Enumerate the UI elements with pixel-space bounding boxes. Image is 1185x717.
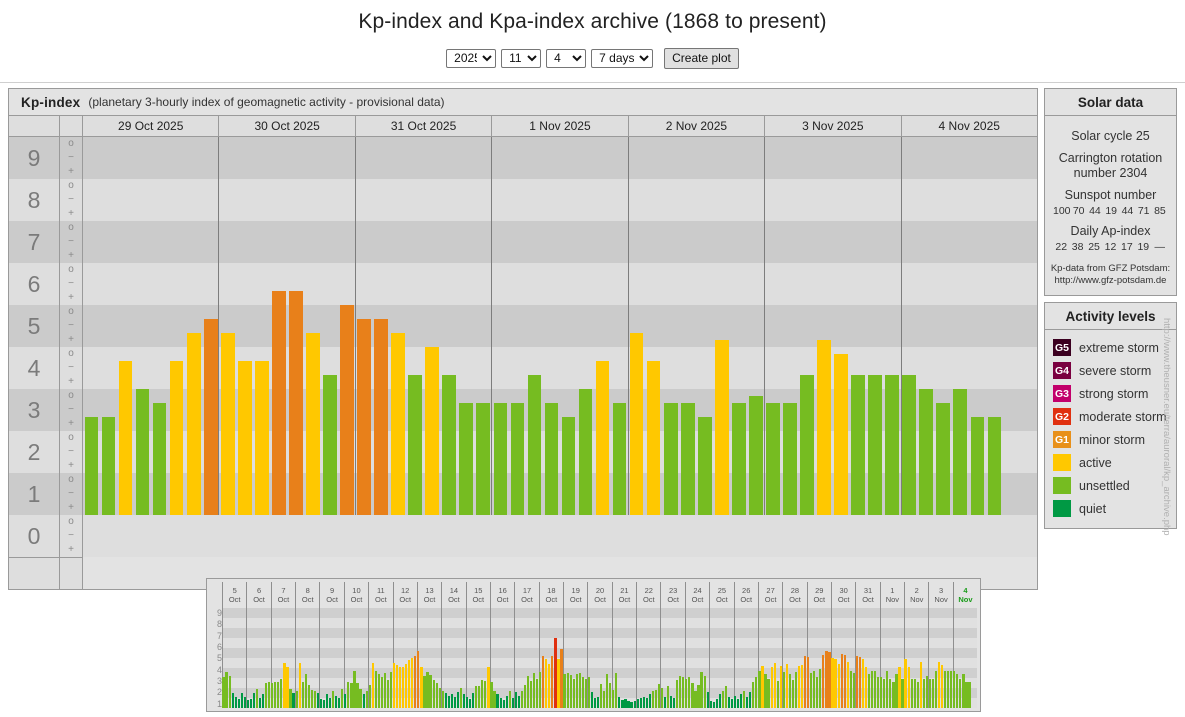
activity-level-label: moderate storm — [1079, 410, 1167, 424]
kp-bar[interactable] — [783, 403, 797, 515]
activity-color-swatch: G1 — [1053, 431, 1071, 448]
mini-day-bar-group — [539, 608, 563, 708]
mini-day-bar-group — [636, 608, 660, 708]
mini-day-header: 17Oct — [514, 582, 538, 608]
mini-day-header: 13Oct — [417, 582, 441, 608]
day-header: 2 Nov 2025 — [628, 116, 764, 136]
bar-slot[interactable] — [730, 137, 747, 515]
bar-slot[interactable] — [747, 137, 764, 515]
kp-bar[interactable] — [391, 333, 405, 515]
y-axis-subtick: o — [60, 515, 82, 529]
kp-bar[interactable] — [238, 361, 252, 515]
activity-level-row: G4severe storm — [1053, 359, 1168, 382]
bar-slot[interactable] — [696, 137, 713, 515]
bar-slot[interactable] — [901, 137, 918, 515]
mini-day-header: 7Oct — [271, 582, 295, 608]
mini-day-header: 16Oct — [490, 582, 514, 608]
bar-slot[interactable] — [100, 137, 117, 515]
mini-day-bar-group — [587, 608, 611, 708]
y-axis-subtick: − — [60, 361, 82, 375]
activity-color-swatch: G4 — [1053, 362, 1071, 379]
activity-level-label: unsettled — [1079, 479, 1130, 493]
kp-bar[interactable] — [936, 403, 950, 515]
month-select[interactable]: 11 — [501, 49, 541, 68]
y-axis-subtick: o — [60, 473, 82, 487]
mini-y-label: 7 — [210, 632, 222, 641]
activity-level-label: extreme storm — [1079, 341, 1159, 355]
bar-slot[interactable] — [373, 137, 390, 515]
range-select[interactable]: 7 days — [591, 49, 653, 68]
carrington-line2: number 2304 — [1074, 166, 1148, 180]
activity-level-label: strong storm — [1079, 387, 1148, 401]
mini-day-bar-group — [222, 608, 246, 708]
kp-bar[interactable] — [459, 403, 473, 515]
mini-overview-chart[interactable]: 987654321 5Oct6Oct7Oct8Oct9Oct10Oct11Oct… — [206, 578, 981, 712]
bar-slot[interactable] — [577, 137, 594, 515]
bar-slot[interactable] — [390, 137, 407, 515]
bar-slot[interactable] — [679, 137, 696, 515]
ap-value: 17 — [1119, 241, 1135, 253]
solar-data-title: Solar data — [1045, 89, 1176, 116]
kp-bar[interactable] — [698, 417, 712, 515]
y-axis-subtick: + — [60, 249, 82, 263]
kp-bar[interactable] — [494, 403, 508, 515]
kp-bar[interactable] — [221, 333, 235, 515]
mini-day-bar-group — [490, 608, 514, 708]
day-bar-group — [628, 137, 764, 515]
day-header: 1 Nov 2025 — [491, 116, 627, 136]
kp-bar[interactable] — [868, 375, 882, 515]
kp-bar[interactable] — [800, 375, 814, 515]
kp-data-source: Kp-data from GFZ Potsdam: http://www.gfz… — [1049, 263, 1172, 287]
y-axis-label-0: 0 — [9, 515, 59, 557]
activity-levels-title: Activity levels — [1045, 303, 1176, 330]
mini-day-bar-group — [734, 608, 758, 708]
kp-bar[interactable] — [919, 389, 933, 515]
bar-slot[interactable] — [287, 137, 304, 515]
mini-day-bar-group — [904, 608, 928, 708]
bar-slot[interactable] — [884, 137, 901, 515]
kp-bar[interactable] — [102, 417, 116, 515]
activity-levels-panel: Activity levels G5extreme stormG4severe … — [1044, 302, 1177, 529]
bar-slot[interactable] — [816, 137, 833, 515]
day-bar-group — [901, 137, 1037, 515]
mini-day-bar-group — [953, 608, 977, 708]
source-line1: Kp-data from GFZ Potsdam: — [1051, 263, 1170, 274]
chart-caption: Kp-index (planetary 3-hourly index of ge… — [9, 89, 1037, 116]
mini-day-bar-group — [393, 608, 417, 708]
kp-bar[interactable] — [681, 403, 695, 515]
activity-level-row: quiet — [1053, 497, 1168, 520]
activity-levels-list: G5extreme stormG4severe stormG3strong st… — [1045, 330, 1176, 528]
kp-bar[interactable] — [85, 417, 99, 515]
bar-slot[interactable] — [833, 137, 850, 515]
y-axis-label-7: 7 — [9, 221, 59, 263]
bar-slot[interactable] — [1020, 137, 1037, 515]
sunspot-value: 44 — [1119, 205, 1135, 217]
kp-bar[interactable] — [357, 319, 371, 515]
kp-bar[interactable] — [613, 403, 627, 515]
y-axis-subtick: + — [60, 417, 82, 431]
mini-day-header: 22Oct — [636, 582, 660, 608]
y-axis-subtick: o — [60, 389, 82, 403]
y-axis-subtick: o — [60, 431, 82, 445]
bar-slot[interactable] — [134, 137, 151, 515]
kp-bar[interactable] — [119, 361, 133, 515]
bar-slot[interactable] — [117, 137, 134, 515]
day-header: 4 Nov 2025 — [901, 116, 1037, 136]
ap-value: 12 — [1102, 241, 1118, 253]
header-divider — [0, 82, 1185, 83]
mini-day-header: 19Oct — [563, 582, 587, 608]
activity-level-row: unsettled — [1053, 474, 1168, 497]
activity-level-label: minor storm — [1079, 433, 1145, 447]
solar-cycle: Solar cycle 25 — [1049, 129, 1172, 144]
bar-slot[interactable] — [543, 137, 560, 515]
bar-slot[interactable] — [1003, 137, 1020, 515]
bar-slot[interactable] — [850, 137, 867, 515]
activity-level-row: G2moderate storm — [1053, 405, 1168, 428]
y-axis-subtick: + — [60, 501, 82, 515]
mini-day-header: 18Oct — [539, 582, 563, 608]
sidebar: Solar data Solar cycle 25 Carrington rot… — [1044, 88, 1177, 590]
kp-bar[interactable] — [579, 389, 593, 515]
y-axis-major: 9876543210 — [9, 116, 59, 589]
day-header-row: 29 Oct 202530 Oct 202531 Oct 20251 Nov 2… — [83, 116, 1037, 137]
activity-color-swatch — [1053, 500, 1071, 517]
source-url-vertical: http://www.theusner.eu/terra/auroral/kp_… — [1161, 318, 1172, 536]
mini-day-bar-group — [417, 608, 441, 708]
mini-day-bar-group — [246, 608, 270, 708]
activity-level-row: G1minor storm — [1053, 428, 1168, 451]
mini-day-header: 8Oct — [295, 582, 319, 608]
kp-bar[interactable] — [255, 361, 269, 515]
bar-slot[interactable] — [713, 137, 730, 515]
y-axis-minor: o−+o−+o−+o−+o−+o−+o−+o−+o−+o−+ — [59, 116, 83, 589]
ap-value: 38 — [1069, 241, 1085, 253]
bar-slot[interactable] — [407, 137, 424, 515]
kp-bar[interactable] — [306, 333, 320, 515]
bar-slot[interactable] — [304, 137, 321, 515]
activity-level-row: active — [1053, 451, 1168, 474]
bar-slot[interactable] — [594, 137, 611, 515]
mini-day-header: 4Nov — [953, 582, 977, 608]
y-axis-subtick: − — [60, 529, 82, 543]
activity-color-swatch — [1053, 454, 1071, 471]
mini-day-header: 30Oct — [831, 582, 855, 608]
mini-day-bar-group — [612, 608, 636, 708]
activity-level-label: active — [1079, 456, 1112, 470]
main-area: Kp-index (planetary 3-hourly index of ge… — [8, 88, 1177, 590]
mini-day-header: 27Oct — [758, 582, 782, 608]
mini-bar-slot — [974, 608, 977, 708]
mini-day-header: 11Oct — [368, 582, 392, 608]
mini-y-label: 3 — [210, 677, 222, 686]
sunspot-value: 19 — [1103, 205, 1119, 217]
kp-bar[interactable] — [272, 291, 286, 515]
kp-bar[interactable] — [528, 375, 542, 515]
day-header: 31 Oct 2025 — [355, 116, 491, 136]
bar-slot[interactable] — [798, 137, 815, 515]
day-bar-group — [356, 137, 492, 515]
kp-bar[interactable] — [630, 333, 644, 515]
kp-bar[interactable] — [374, 319, 388, 515]
activity-level-label: severe storm — [1079, 364, 1151, 378]
activity-level-row: G5extreme storm — [1053, 336, 1168, 359]
kp-bar[interactable] — [732, 403, 746, 515]
y-axis-subtick: + — [60, 459, 82, 473]
mini-day-bar-group — [928, 608, 952, 708]
y-axis-subtick: − — [60, 403, 82, 417]
bar-slot[interactable] — [509, 137, 526, 515]
mini-day-bar-group — [563, 608, 587, 708]
bar-slot[interactable] — [781, 137, 798, 515]
y-axis-subtick: o — [60, 305, 82, 319]
mini-day-header: 25Oct — [709, 582, 733, 608]
bar-slot[interactable] — [356, 137, 373, 515]
source-line2: http://www.gfz-potsdam.de — [1055, 275, 1167, 286]
y-axis-subtick: o — [60, 347, 82, 361]
mini-y-axis: 987654321 — [210, 582, 222, 708]
bar-slot[interactable] — [253, 137, 270, 515]
year-select[interactable]: 2025 — [446, 49, 496, 68]
kp-bar[interactable] — [596, 361, 610, 515]
kp-bar[interactable] — [885, 375, 899, 515]
mini-day-bar-group — [368, 608, 392, 708]
bar-slot[interactable] — [611, 137, 628, 515]
mini-day-bar-group — [831, 608, 855, 708]
plot-body — [83, 137, 1037, 515]
day-bar-group — [764, 137, 900, 515]
day-bar-group — [219, 137, 355, 515]
kp-bar[interactable] — [476, 403, 490, 515]
y-axis-subtick: + — [60, 165, 82, 179]
kp-bar[interactable] — [817, 340, 831, 515]
mini-bars — [222, 608, 977, 708]
kp-bar[interactable] — [545, 403, 559, 515]
grid-band — [83, 543, 1037, 557]
y-axis-subtick: + — [60, 375, 82, 389]
page-title: Kp-index and Kpa-index archive (1868 to … — [0, 0, 1185, 34]
kp-bar[interactable] — [715, 340, 729, 515]
y-axis-subtick: − — [60, 487, 82, 501]
kp-bar[interactable] — [953, 389, 967, 515]
bar-slot[interactable] — [441, 137, 458, 515]
chart-caption-sub: (planetary 3-hourly index of geomagnetic… — [88, 95, 444, 109]
y-axis-subtick: o — [60, 179, 82, 193]
y-axis-subtick: − — [60, 277, 82, 291]
kp-bar[interactable] — [647, 361, 661, 515]
y-axis-label-9: 9 — [9, 137, 59, 179]
bar-slot[interactable] — [321, 137, 338, 515]
kp-bar[interactable] — [971, 417, 985, 515]
kp-bar[interactable] — [664, 403, 678, 515]
activity-level-row: G3strong storm — [1053, 382, 1168, 405]
kp-bar[interactable] — [511, 403, 525, 515]
bar-slot[interactable] — [219, 137, 236, 515]
chart-caption-strong: Kp-index — [21, 95, 80, 110]
mini-day-header: 5Oct — [222, 582, 246, 608]
carrington-rotation: Carrington rotation number 2304 — [1049, 151, 1172, 181]
mini-day-header: 29Oct — [807, 582, 831, 608]
mini-y-label: 4 — [210, 666, 222, 675]
y-axis-subtick: + — [60, 291, 82, 305]
day-bar-group — [492, 137, 628, 515]
mini-y-label: 1 — [210, 700, 222, 709]
mini-day-header: 12Oct — [393, 582, 417, 608]
y-axis-label-6: 6 — [9, 263, 59, 305]
kp-bar[interactable] — [851, 375, 865, 515]
mini-day-header: 2Nov — [904, 582, 928, 608]
bar-slot[interactable] — [168, 137, 185, 515]
ap-index-values: 223825121719— — [1049, 239, 1172, 253]
bar-slot[interactable] — [475, 137, 492, 515]
kp-bar[interactable] — [153, 403, 167, 515]
sunspot-value: 71 — [1136, 205, 1152, 217]
mini-y-label: 2 — [210, 688, 222, 697]
sunspot-label: Sunspot number — [1049, 188, 1172, 203]
mini-day-header: 31Oct — [855, 582, 879, 608]
solar-data-panel: Solar data Solar cycle 25 Carrington rot… — [1044, 88, 1177, 296]
ap-value: 19 — [1135, 241, 1151, 253]
mini-day-bar-group — [782, 608, 806, 708]
activity-color-swatch: G2 — [1053, 408, 1071, 425]
bar-slot[interactable] — [458, 137, 475, 515]
ap-value: 25 — [1086, 241, 1102, 253]
kp-bar[interactable] — [562, 417, 576, 515]
y-axis-label-5: 5 — [9, 305, 59, 347]
y-axis-label-4: 4 — [9, 347, 59, 389]
mini-day-header: 10Oct — [344, 582, 368, 608]
bar-slot[interactable] — [526, 137, 543, 515]
bar-slot[interactable] — [270, 137, 287, 515]
kp-bar[interactable] — [170, 361, 184, 515]
y-axis-subtick: o — [60, 263, 82, 277]
plot-controls: 2025 11 4 7 days Create plot — [0, 48, 1185, 68]
bar-slot[interactable] — [935, 137, 952, 515]
bar-slot[interactable] — [185, 137, 202, 515]
bar-slot[interactable] — [952, 137, 969, 515]
bar-slot[interactable] — [867, 137, 884, 515]
mini-day-header: 15Oct — [466, 582, 490, 608]
day-select[interactable]: 4 — [546, 49, 586, 68]
mini-day-bar-group — [295, 608, 319, 708]
mini-y-label: 9 — [210, 609, 222, 618]
kp-bar[interactable] — [289, 291, 303, 515]
kp-bar[interactable] — [204, 319, 218, 515]
sunspot-values: 100704419447185 — [1049, 203, 1172, 217]
activity-color-swatch — [1053, 477, 1071, 494]
kp-bar[interactable] — [834, 354, 848, 515]
mini-day-header: 9Oct — [319, 582, 343, 608]
mini-day-bar-group — [685, 608, 709, 708]
bar-slot[interactable] — [424, 137, 441, 515]
ap-index-label: Daily Ap-index — [1049, 224, 1172, 239]
mini-day-header: 14Oct — [441, 582, 465, 608]
kp-bar[interactable] — [902, 375, 916, 515]
sunspot-value: 44 — [1087, 205, 1103, 217]
y-axis-subtick: + — [60, 207, 82, 221]
mini-day-bar-group — [758, 608, 782, 708]
y-axis-subtick: − — [60, 319, 82, 333]
y-axis-subtick: − — [60, 235, 82, 249]
kp-bar[interactable] — [425, 347, 439, 515]
bar-slot[interactable] — [151, 137, 168, 515]
mini-day-bar-group — [855, 608, 879, 708]
bar-slot[interactable] — [83, 137, 100, 515]
bar-slot[interactable] — [202, 137, 219, 515]
kp-bar[interactable] — [988, 417, 1002, 515]
bar-slot[interactable] — [492, 137, 509, 515]
bar-slot[interactable] — [986, 137, 1003, 515]
mini-day-headers: 5Oct6Oct7Oct8Oct9Oct10Oct11Oct12Oct13Oct… — [222, 582, 977, 608]
mini-day-header: 26Oct — [734, 582, 758, 608]
mini-day-header: 24Oct — [685, 582, 709, 608]
kp-bars — [83, 137, 1037, 515]
y-axis-subtick: − — [60, 151, 82, 165]
day-header: 29 Oct 2025 — [83, 116, 218, 136]
kp-chart-panel: Kp-index (planetary 3-hourly index of ge… — [8, 88, 1038, 590]
bar-slot[interactable] — [628, 137, 645, 515]
kp-bar[interactable] — [187, 333, 201, 515]
y-axis-subtick: − — [60, 193, 82, 207]
y-axis-subtick: − — [60, 445, 82, 459]
bar-slot[interactable] — [662, 137, 679, 515]
day-bar-group — [83, 137, 219, 515]
bar-slot[interactable] — [764, 137, 781, 515]
mini-day-header: 23Oct — [660, 582, 684, 608]
kp-bar[interactable] — [749, 396, 763, 515]
grid-band — [83, 515, 1037, 529]
y-axis-subtick: + — [60, 543, 82, 557]
activity-color-swatch: G5 — [1053, 339, 1071, 356]
mini-day-bar-group — [660, 608, 684, 708]
mini-day-header: 3Nov — [928, 582, 952, 608]
mini-y-label: 8 — [210, 620, 222, 629]
mini-y-label: 5 — [210, 654, 222, 663]
activity-color-swatch: G3 — [1053, 385, 1071, 402]
bar-slot[interactable] — [645, 137, 662, 515]
ap-value: — — [1152, 241, 1168, 253]
mini-day-bar-group — [514, 608, 538, 708]
kp-bar[interactable] — [442, 375, 456, 515]
day-header: 30 Oct 2025 — [218, 116, 354, 136]
bar-slot[interactable] — [560, 137, 577, 515]
mini-day-bar-group — [319, 608, 343, 708]
kp-bar[interactable] — [323, 375, 337, 515]
sunspot-value: 100 — [1053, 205, 1071, 217]
mini-y-label: 6 — [210, 643, 222, 652]
kp-bar[interactable] — [340, 305, 354, 515]
create-plot-button[interactable]: Create plot — [664, 48, 739, 69]
day-header: 3 Nov 2025 — [764, 116, 900, 136]
y-axis-subtick: o — [60, 137, 82, 151]
kp-bar[interactable] — [766, 403, 780, 515]
mini-day-bar-group — [441, 608, 465, 708]
sunspot-value: 85 — [1152, 205, 1168, 217]
bar-slot[interactable] — [339, 137, 356, 515]
bar-slot[interactable] — [918, 137, 935, 515]
mini-plot-body — [222, 608, 977, 708]
y-axis-label-1: 1 — [9, 473, 59, 515]
carrington-line1: Carrington rotation — [1059, 151, 1163, 165]
mini-day-header: 6Oct — [246, 582, 270, 608]
kp-bar[interactable] — [408, 375, 422, 515]
bar-slot[interactable] — [969, 137, 986, 515]
grid-band — [83, 529, 1037, 543]
kp-bar[interactable] — [136, 389, 150, 515]
bar-slot[interactable] — [236, 137, 253, 515]
